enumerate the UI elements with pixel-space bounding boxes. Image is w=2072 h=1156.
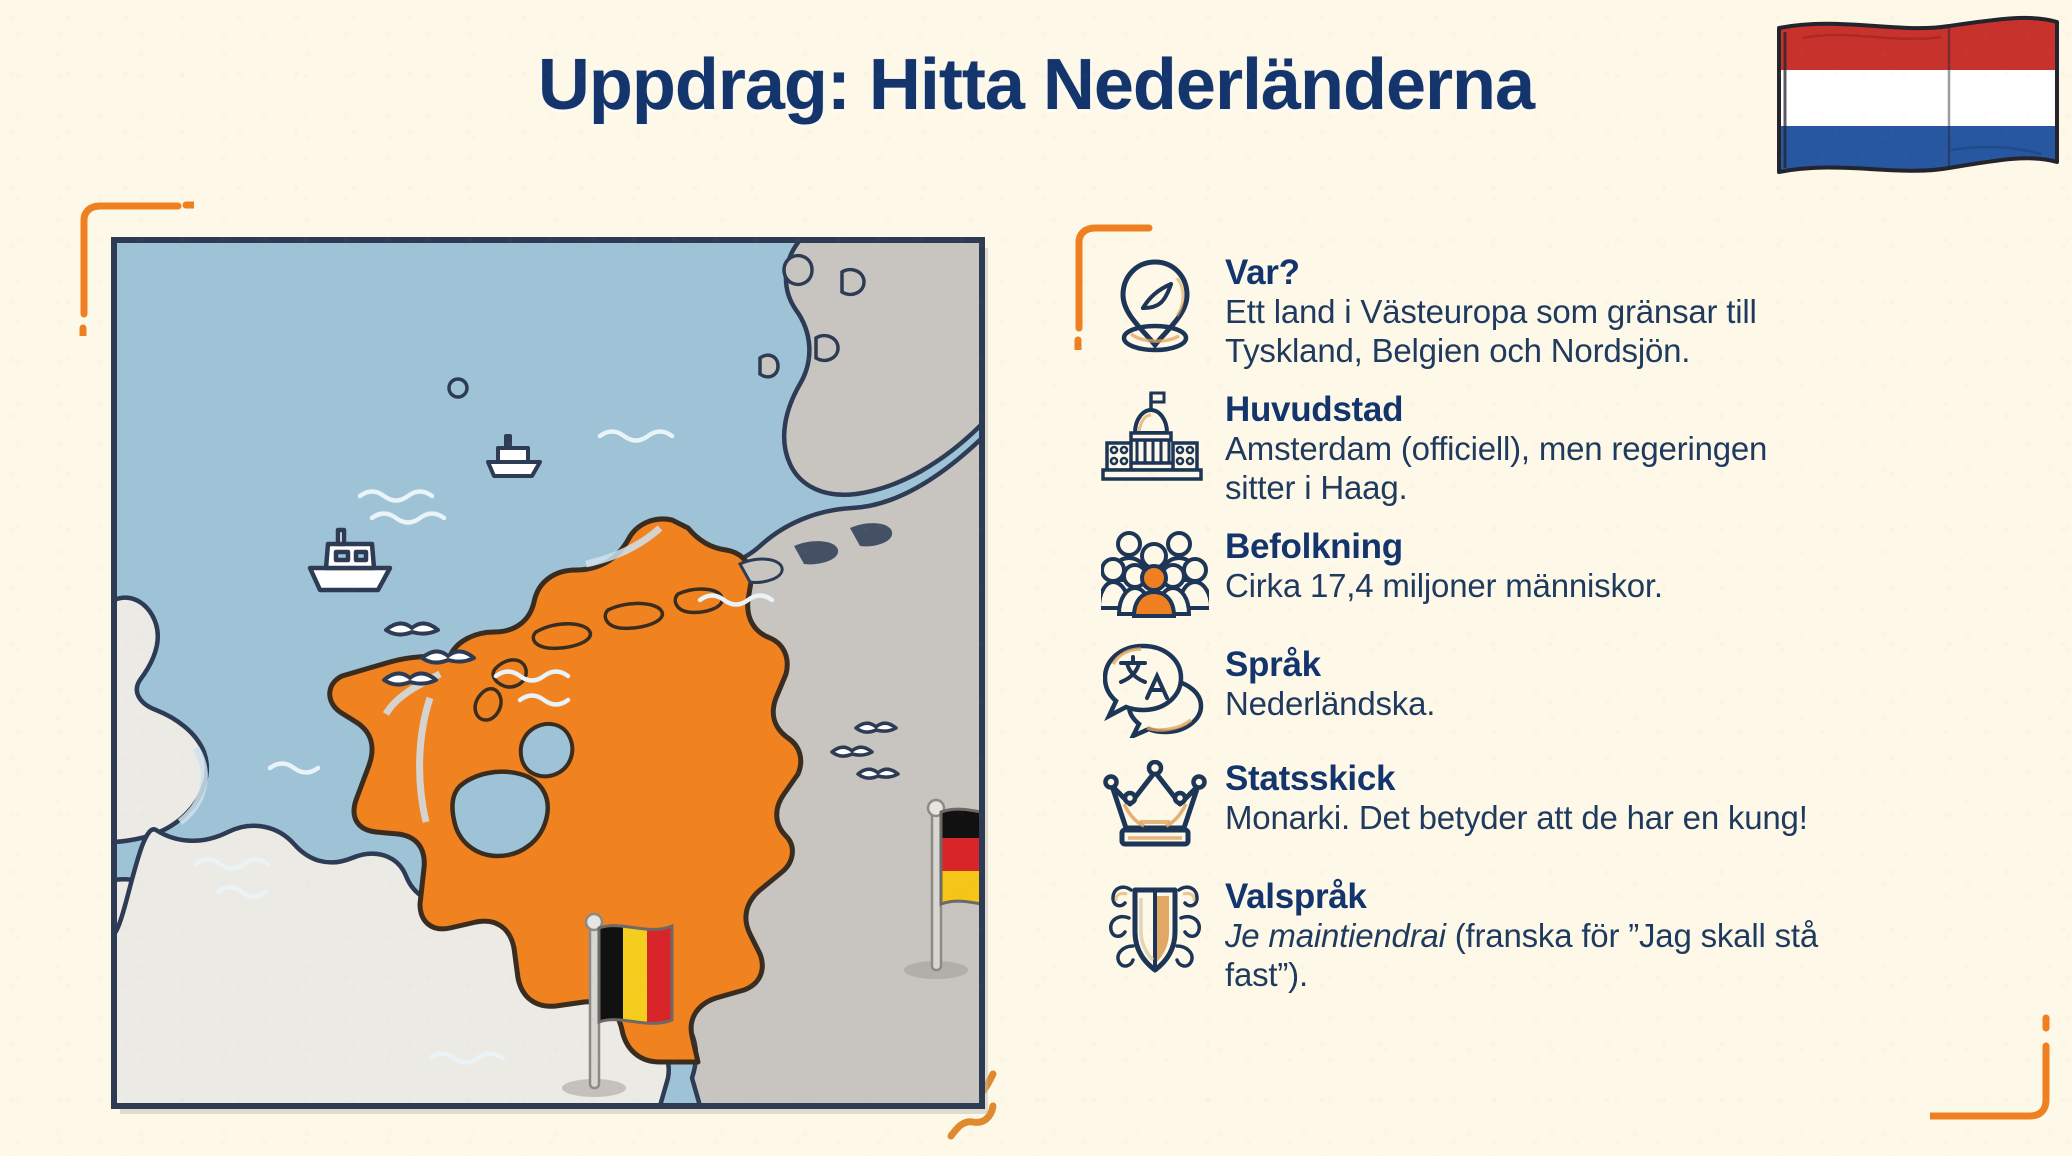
info-item-title: Statsskick <box>1225 760 1808 797</box>
info-item-title: Valspråk <box>1225 878 1818 915</box>
info-item-title: Var? <box>1225 254 1757 291</box>
info-item-title: Huvudstad <box>1225 391 1767 428</box>
info-item-desc: Amsterdam (officiell), men regeringen si… <box>1225 430 1767 508</box>
info-item-title: Språk <box>1225 646 1435 683</box>
shield-icon <box>1095 874 1215 978</box>
translate-speech-bubble-icon <box>1095 638 1215 742</box>
info-corner-bracket-topleft <box>1071 220 1161 350</box>
info-item-desc: Je maintiendrai (franska för ”Jag skall … <box>1225 917 1818 995</box>
info-item-var: Var? Ett land i Västeuropa som gränsar t… <box>1095 250 1955 371</box>
people-group-icon <box>1095 520 1215 624</box>
netherlands-flag <box>1769 12 2065 187</box>
info-item-desc: Ett land i Västeuropa som gränsar till T… <box>1225 293 1757 371</box>
capitol-building-icon <box>1095 387 1215 491</box>
motto-italic: Je maintiendrai <box>1225 917 1446 954</box>
info-item-huvudstad: Huvudstad Amsterdam (officiell), men reg… <box>1095 387 1955 508</box>
page-corner-bracket-bottomright <box>1930 990 2060 1130</box>
info-item-valsprak: Valspråk Je maintiendrai (franska för ”J… <box>1095 874 1955 995</box>
info-list: Var? Ett land i Västeuropa som gränsar t… <box>1095 250 1955 1012</box>
info-item-befolkning: Befolkning Cirka 17,4 miljoner människor… <box>1095 520 1955 624</box>
info-item-desc: Cirka 17,4 miljoner människor. <box>1225 567 1663 606</box>
info-item-desc: Nederländska. <box>1225 685 1435 724</box>
page-title: Uppdrag: Hitta Nederländerna <box>0 44 2072 126</box>
crown-icon <box>1095 756 1215 860</box>
europe-map-netherlands-highlighted <box>100 228 1000 1120</box>
info-item-statsskick: Statsskick Monarki. Det betyder att de h… <box>1095 756 1955 860</box>
info-item-sprak: Språk Nederländska. <box>1095 638 1955 742</box>
info-item-title: Befolkning <box>1225 528 1663 565</box>
info-item-desc: Monarki. Det betyder att de har en kung! <box>1225 799 1808 838</box>
